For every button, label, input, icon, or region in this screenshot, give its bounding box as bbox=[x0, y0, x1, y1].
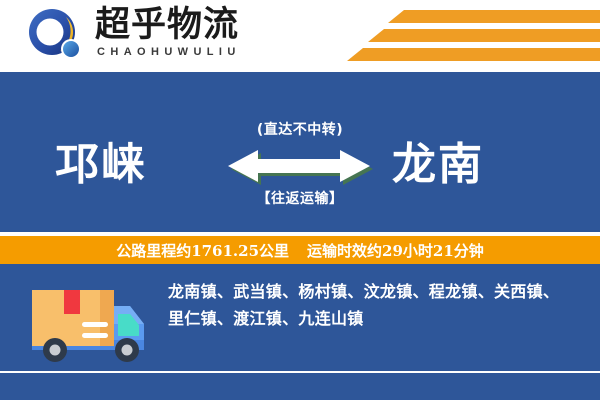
bottom-divider bbox=[0, 371, 600, 373]
coverage-line-2: 里仁镇、渡江镇、九连山镇 bbox=[168, 305, 584, 332]
bidirectional-arrow-icon bbox=[228, 147, 373, 185]
logistics-route-banner: 超乎物流 CHAOHUWULIU 邛崃 龙南 (直达不中转) 【往返运输】 公路… bbox=[0, 0, 600, 400]
coverage-line-1: 龙南镇、武当镇、杨村镇、汶龙镇、程龙镇、关西镇、 bbox=[168, 278, 584, 305]
brand-name-cn: 超乎物流 bbox=[95, 6, 239, 44]
roundtrip-note: 【往返运输】 bbox=[0, 188, 600, 208]
circle-crescent-logo-icon bbox=[26, 8, 86, 64]
speed-stripe-2 bbox=[368, 29, 600, 42]
speed-stripe-3 bbox=[347, 48, 600, 61]
brand-name-en: CHAOHUWULIU bbox=[97, 46, 241, 58]
distance-text: 公路里程约1761.25公里 bbox=[116, 240, 289, 261]
speed-stripe-1 bbox=[388, 10, 600, 23]
banner-header: 超乎物流 CHAOHUWULIU bbox=[0, 0, 600, 72]
coverage-area-text: 龙南镇、武当镇、杨村镇、汶龙镇、程龙镇、关西镇、 里仁镇、渡江镇、九连山镇 bbox=[168, 278, 584, 332]
route-info-bar: 公路里程约1761.25公里 运输时效约29小时21分钟 bbox=[0, 236, 600, 264]
delivery-truck-icon bbox=[26, 278, 150, 370]
direct-shipping-note: (直达不中转) bbox=[0, 119, 600, 139]
duration-text: 运输时效约29小时21分钟 bbox=[307, 240, 484, 261]
